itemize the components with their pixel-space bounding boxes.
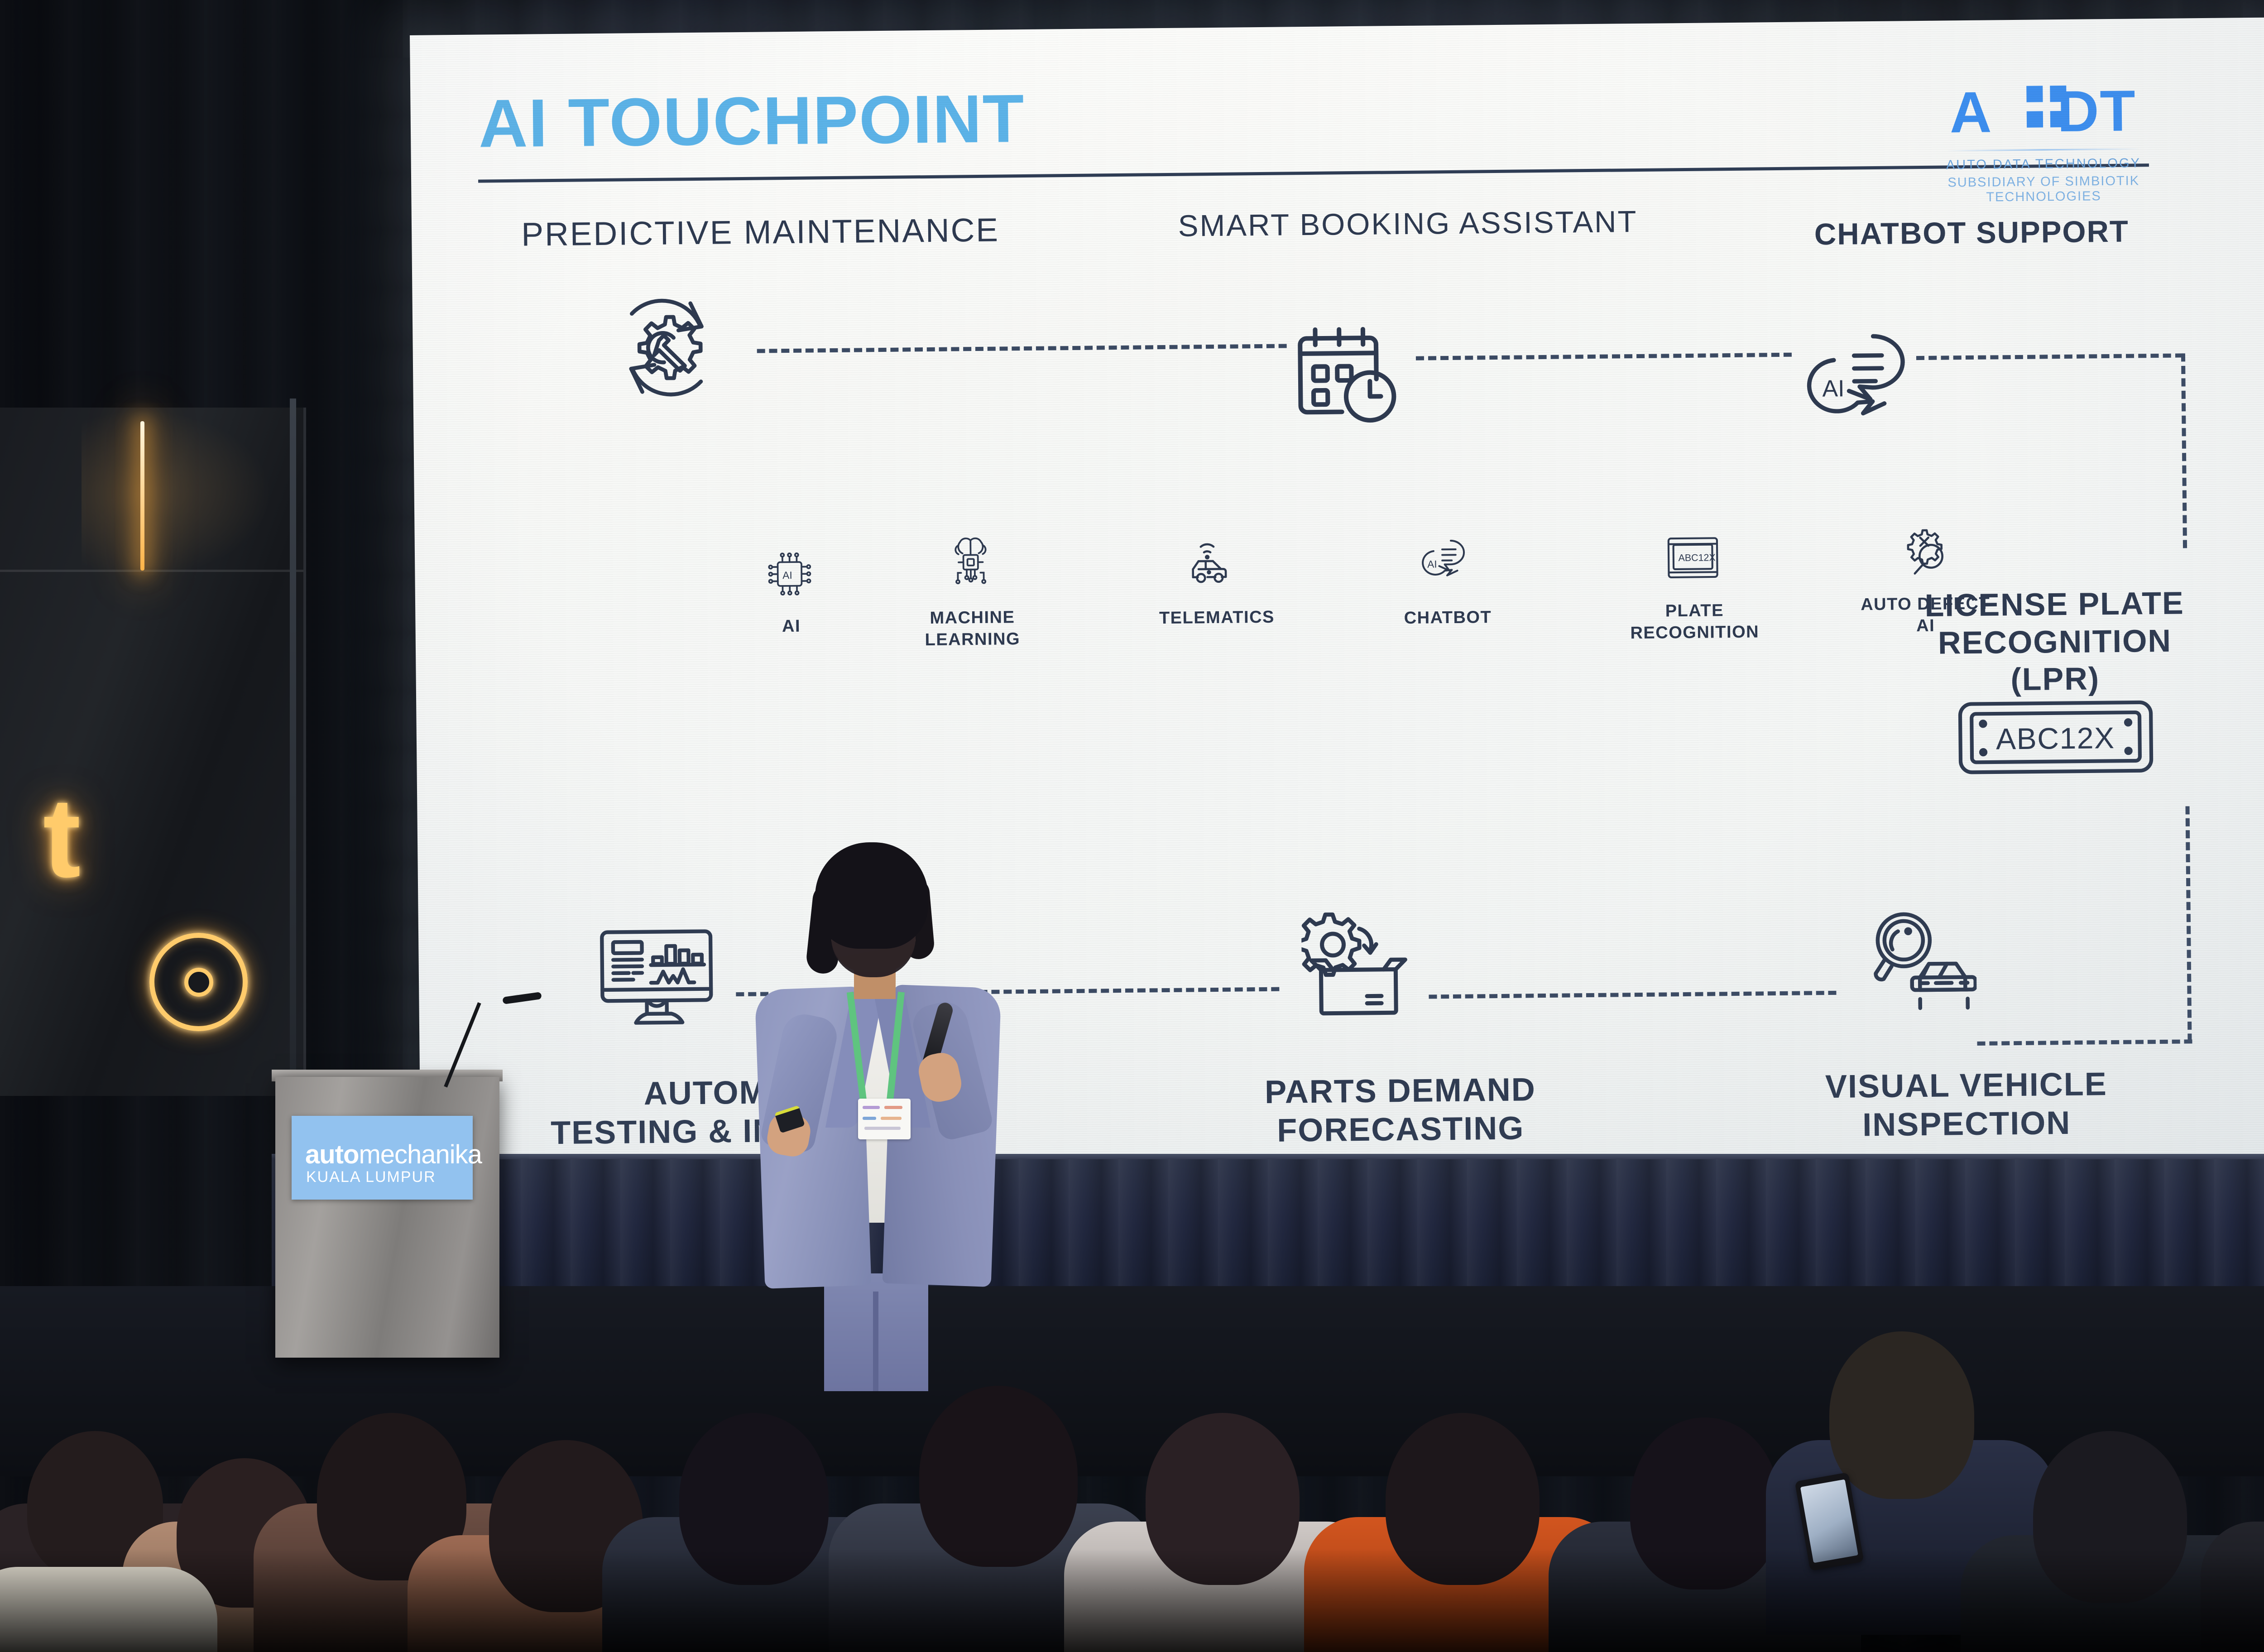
- foreground-shadow: [0, 1549, 2264, 1652]
- lpr-line-3: (LPR): [2010, 661, 2100, 697]
- audience-member-head: [919, 1386, 1078, 1567]
- magnifier-car-icon: [1858, 903, 1977, 1013]
- connector-parts-to-visual: [1429, 991, 1836, 999]
- visual-line-2: INSPECTION: [1862, 1105, 2071, 1143]
- audience-member-head: [1829, 1331, 1974, 1499]
- lpr-line-2: RECOGNITION: [1938, 623, 2172, 660]
- connector-lpr-to-bottom: [2186, 806, 2192, 1042]
- conference-photo-scene: t AI TOUCHPOINT A DT AUTO DATA TECHNOLOG…: [0, 0, 2264, 1652]
- svg-text:AI: AI: [782, 569, 792, 581]
- adt-logo: A DT AUTO DATA TECHNOLOGY SUBSIDIARY OF …: [1889, 82, 2198, 206]
- neon-ring-icon: [149, 933, 248, 1031]
- micro-label-telematics: TELEMATICS: [1149, 607, 1285, 629]
- license-plate-icon: ABC12X: [1956, 698, 2156, 777]
- speaker-badge: [858, 1099, 911, 1139]
- connector-booking-to-chatbot: [1416, 353, 1792, 360]
- connector-down-to-lpr: [2181, 353, 2187, 548]
- logo-divider: [1946, 148, 2141, 151]
- parts-line-1: PARTS DEMAND: [1265, 1071, 1536, 1110]
- lpr-plate-text: ABC12X: [1996, 721, 2115, 756]
- parts-line-2: FORECASTING: [1277, 1110, 1525, 1148]
- booth-led-sheen: [82, 410, 272, 577]
- label-chatbot-support: CHATBOT SUPPORT: [1711, 212, 2232, 253]
- micro-label-chatbot: CHATBOT: [1384, 607, 1511, 629]
- connector-chatbot-to-lpr: [1916, 353, 2183, 360]
- chat-bubbles-ai-small-icon: AI: [1418, 537, 1470, 587]
- speaker-hair: [815, 842, 928, 949]
- label-parts-demand-forecasting: PARTS DEMAND FORECASTING: [1117, 1069, 1684, 1152]
- logo-tagline-1: AUTO DATA TECHNOLOGY: [1890, 155, 2197, 173]
- brain-chip-icon: [945, 537, 997, 594]
- booth-led-strip: [140, 421, 144, 571]
- connector-visual-to-lpr: [1977, 1039, 2192, 1046]
- logo-letter-a: A: [1949, 80, 1991, 145]
- car-wifi-icon: [1180, 537, 1235, 592]
- svg-text:AI: AI: [1427, 558, 1437, 570]
- label-predictive-maintenance: PREDICTIVE MAINTENANCE: [466, 210, 1055, 255]
- page-title: AI TOUCHPOINT: [478, 79, 1025, 163]
- micro-label-plate-recognition: PLATE RECOGNITION: [1620, 600, 1770, 644]
- projection-screen: AI TOUCHPOINT A DT AUTO DATA TECHNOLOGY …: [410, 18, 2264, 1195]
- plate-screen-icon: ABC12X: [1664, 534, 1722, 582]
- svg-text:AI: AI: [1822, 375, 1845, 401]
- lpr-line-1: LICENSE PLATE: [1924, 585, 2184, 623]
- gear-wrench-refresh-icon: [604, 286, 728, 409]
- booth-vertical-edge: [290, 399, 296, 1105]
- gear-box-icon: [1301, 907, 1415, 1021]
- logo-tagline-2: SUBSIDIARY OF SIMBIOTIK TECHNOLOGIES: [1890, 173, 2198, 206]
- label-smart-booking-assistant: SMART BOOKING ASSISTANT: [1163, 204, 1653, 244]
- connector-predictive-to-booking: [757, 344, 1287, 353]
- gear-magnifier-icon: [1900, 523, 1952, 578]
- monitor-dashboard-icon: [595, 925, 718, 1030]
- micro-label-ai: AI: [732, 615, 850, 638]
- cpu-chip-ai-icon: AI: [766, 550, 814, 598]
- neon-letter-icon: t: [43, 786, 129, 899]
- micro-label-machine-learning: MACHINE LEARNING: [897, 607, 1047, 651]
- label-visual-vehicle-inspection: VISUAL VEHICLE INSPECTION: [1683, 1064, 2250, 1146]
- plate-text-small: ABC12X: [1678, 552, 1715, 563]
- visual-line-1: VISUAL VEHICLE: [1825, 1066, 2108, 1105]
- chat-bubbles-ai-icon: AI: [1798, 329, 1912, 427]
- calendar-clock-icon: [1291, 320, 1405, 425]
- label-license-plate-recognition: LICENSE PLATE RECOGNITION (LPR): [1851, 584, 2259, 700]
- logo-dots-icon: [2026, 86, 2070, 137]
